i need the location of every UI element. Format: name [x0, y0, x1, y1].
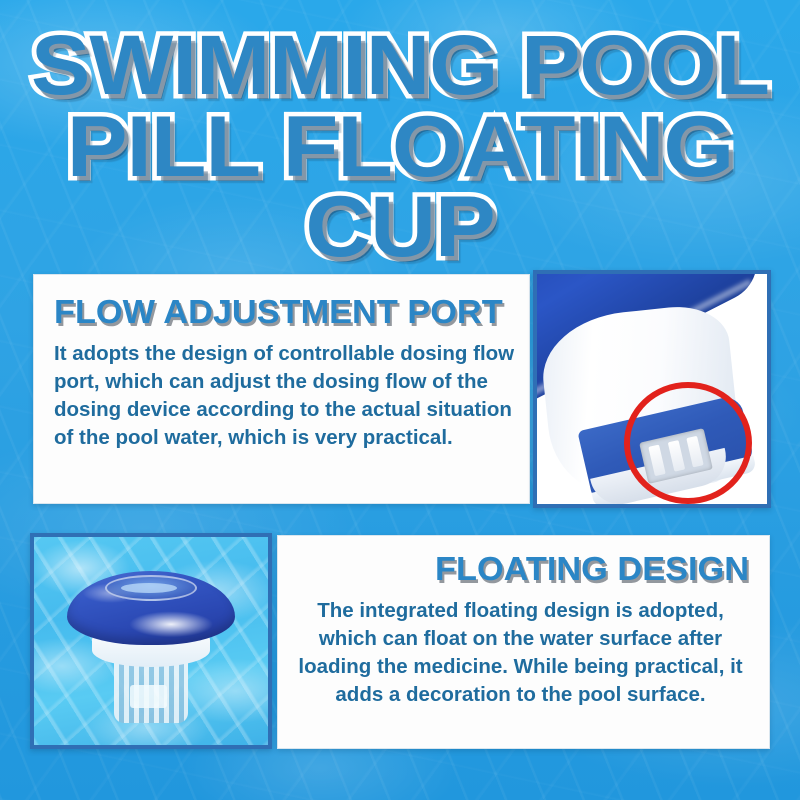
floating-design-product-photo: Blue floating chlorine dispenser resting… [34, 537, 268, 745]
feature-section-flow-adjustment-port: FLOW ADJUSTMENT PORT It adopts the desig… [0, 270, 800, 508]
floating-design-body-text: The integrated floating design is adopte… [292, 597, 749, 709]
flow-port-heading: FLOW ADJUSTMENT PORT [54, 293, 533, 331]
floating-design-photo-caption: Blue floating chlorine dispenser resting… [34, 537, 35, 538]
flow-port-text-card: FLOW ADJUSTMENT PORT It adopts the desig… [33, 274, 530, 504]
title-line-1: SWIMMING POOL [0, 26, 800, 104]
floating-design-photo-card: Blue floating chlorine dispenser resting… [30, 533, 272, 749]
feature-section-floating-design: Blue floating chlorine dispenser resting… [0, 533, 800, 755]
flow-port-photo-card: Close-up of dispenser flow adjustment po… [533, 270, 771, 508]
product-poster: SWIMMING POOL PILL FLOATING CUP FLOW ADJ… [0, 0, 800, 800]
red-highlight-circle-icon [624, 382, 752, 504]
floating-design-heading: FLOATING DESIGN [274, 550, 749, 588]
poster-title: SWIMMING POOL PILL FLOATING CUP [0, 26, 800, 268]
title-line-2: PILL FLOATING CUP [0, 108, 800, 268]
floating-design-text-card: FLOATING DESIGN The integrated floating … [277, 535, 770, 749]
floating-dispenser-illustration [66, 565, 236, 725]
dispenser-lid-opening [105, 575, 197, 601]
flow-port-product-photo: Close-up of dispenser flow adjustment po… [537, 274, 767, 504]
flow-port-body-text: It adopts the design of controllable dos… [54, 340, 515, 452]
